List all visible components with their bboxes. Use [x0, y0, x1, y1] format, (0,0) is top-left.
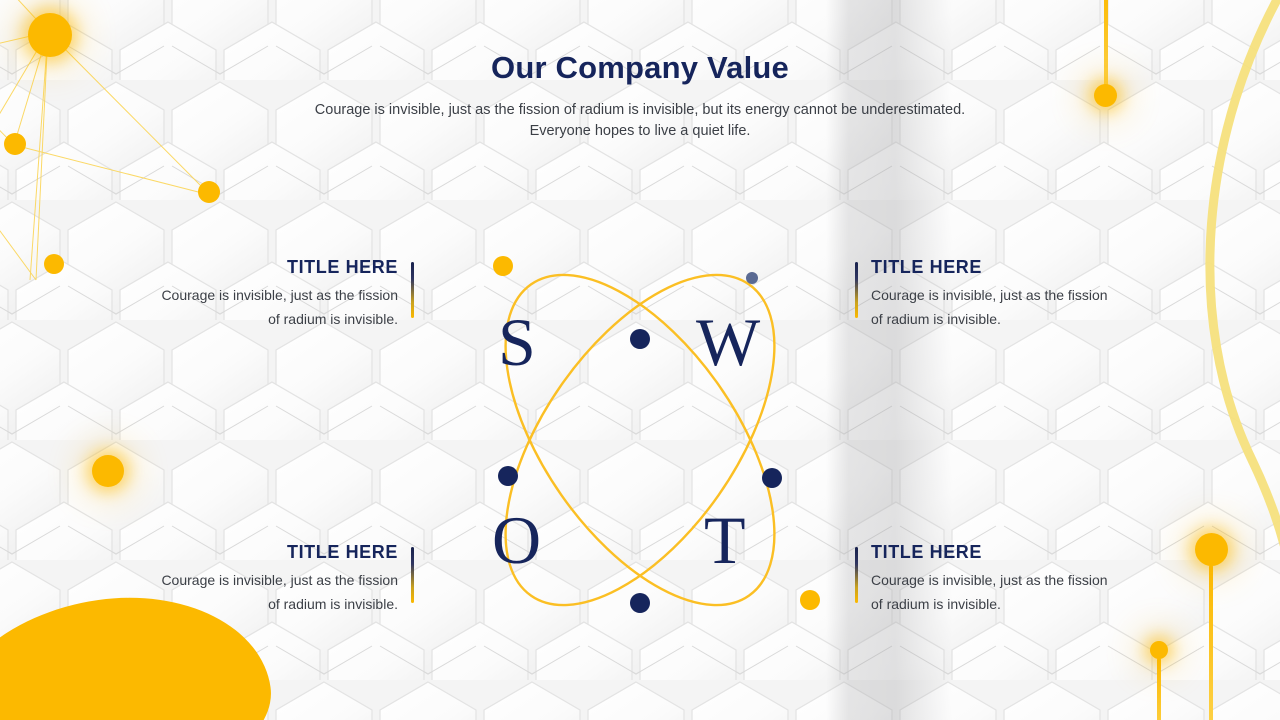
quadrant-body: Courage is invisible, just as the fissio… — [152, 283, 398, 331]
swot-letter-s: S — [498, 308, 536, 376]
swot-dot-bottom — [630, 593, 650, 613]
quadrant-title: TITLE HERE — [871, 256, 1117, 278]
swot-dot-top — [630, 329, 650, 349]
pin-stem-bottom-right-small — [1157, 658, 1161, 720]
quadrant-body: Courage is invisible, just as the fissio… — [152, 568, 398, 616]
swot-dot-left — [498, 466, 518, 486]
swot-dot-right — [762, 468, 782, 488]
quadrant-body: Courage is invisible, just as the fissio… — [871, 283, 1117, 331]
pin-head-bottom-right-small — [1150, 641, 1168, 659]
network-node-small-3 — [44, 254, 64, 274]
header: Our Company Value Courage is invisible, … — [0, 0, 1280, 142]
slide-canvas: Our Company Value Courage is invisible, … — [0, 0, 1280, 720]
pin-head-bottom-right-large — [1195, 533, 1228, 566]
accent-divider-bottom-left — [411, 547, 414, 603]
quadrant-top-right[interactable]: TITLE HERE Courage is invisible, just as… — [855, 256, 1117, 331]
swot-orbit-rings — [440, 240, 840, 640]
accent-divider-top-left — [411, 262, 414, 318]
network-node-small-2 — [198, 181, 220, 203]
quadrant-body: Courage is invisible, just as the fissio… — [871, 568, 1117, 616]
swot-letter-o: O — [492, 506, 541, 574]
quadrant-title: TITLE HERE — [152, 256, 398, 278]
page-title: Our Company Value — [0, 50, 1280, 86]
quadrant-title: TITLE HERE — [871, 541, 1117, 563]
accent-divider-top-right — [855, 262, 858, 318]
quadrant-top-left[interactable]: TITLE HERE Courage is invisible, just as… — [152, 256, 414, 331]
quadrant-title: TITLE HERE — [152, 541, 398, 563]
swot-letter-w: W — [696, 308, 760, 376]
swot-letter-t: T — [704, 506, 746, 574]
orbit-endpoint-dot-top-left — [493, 256, 513, 276]
pin-stem-bottom-right-large — [1209, 565, 1213, 720]
swot-diagram: S W O T — [440, 240, 840, 640]
page-subtitle: Courage is invisible, just as the fissio… — [0, 100, 1280, 142]
accent-divider-bottom-right — [855, 547, 858, 603]
subtitle-line-1: Courage is invisible, just as the fissio… — [315, 102, 965, 118]
quadrant-bottom-left[interactable]: TITLE HERE Courage is invisible, just as… — [152, 541, 414, 616]
quadrant-bottom-right[interactable]: TITLE HERE Courage is invisible, just as… — [855, 541, 1117, 616]
orbit-endpoint-dot-bottom-right — [800, 590, 820, 610]
subtitle-line-2: Everyone hopes to live a quiet life. — [0, 121, 1280, 142]
swot-dot-accent-small — [746, 272, 758, 284]
network-node-medium — [92, 455, 124, 487]
